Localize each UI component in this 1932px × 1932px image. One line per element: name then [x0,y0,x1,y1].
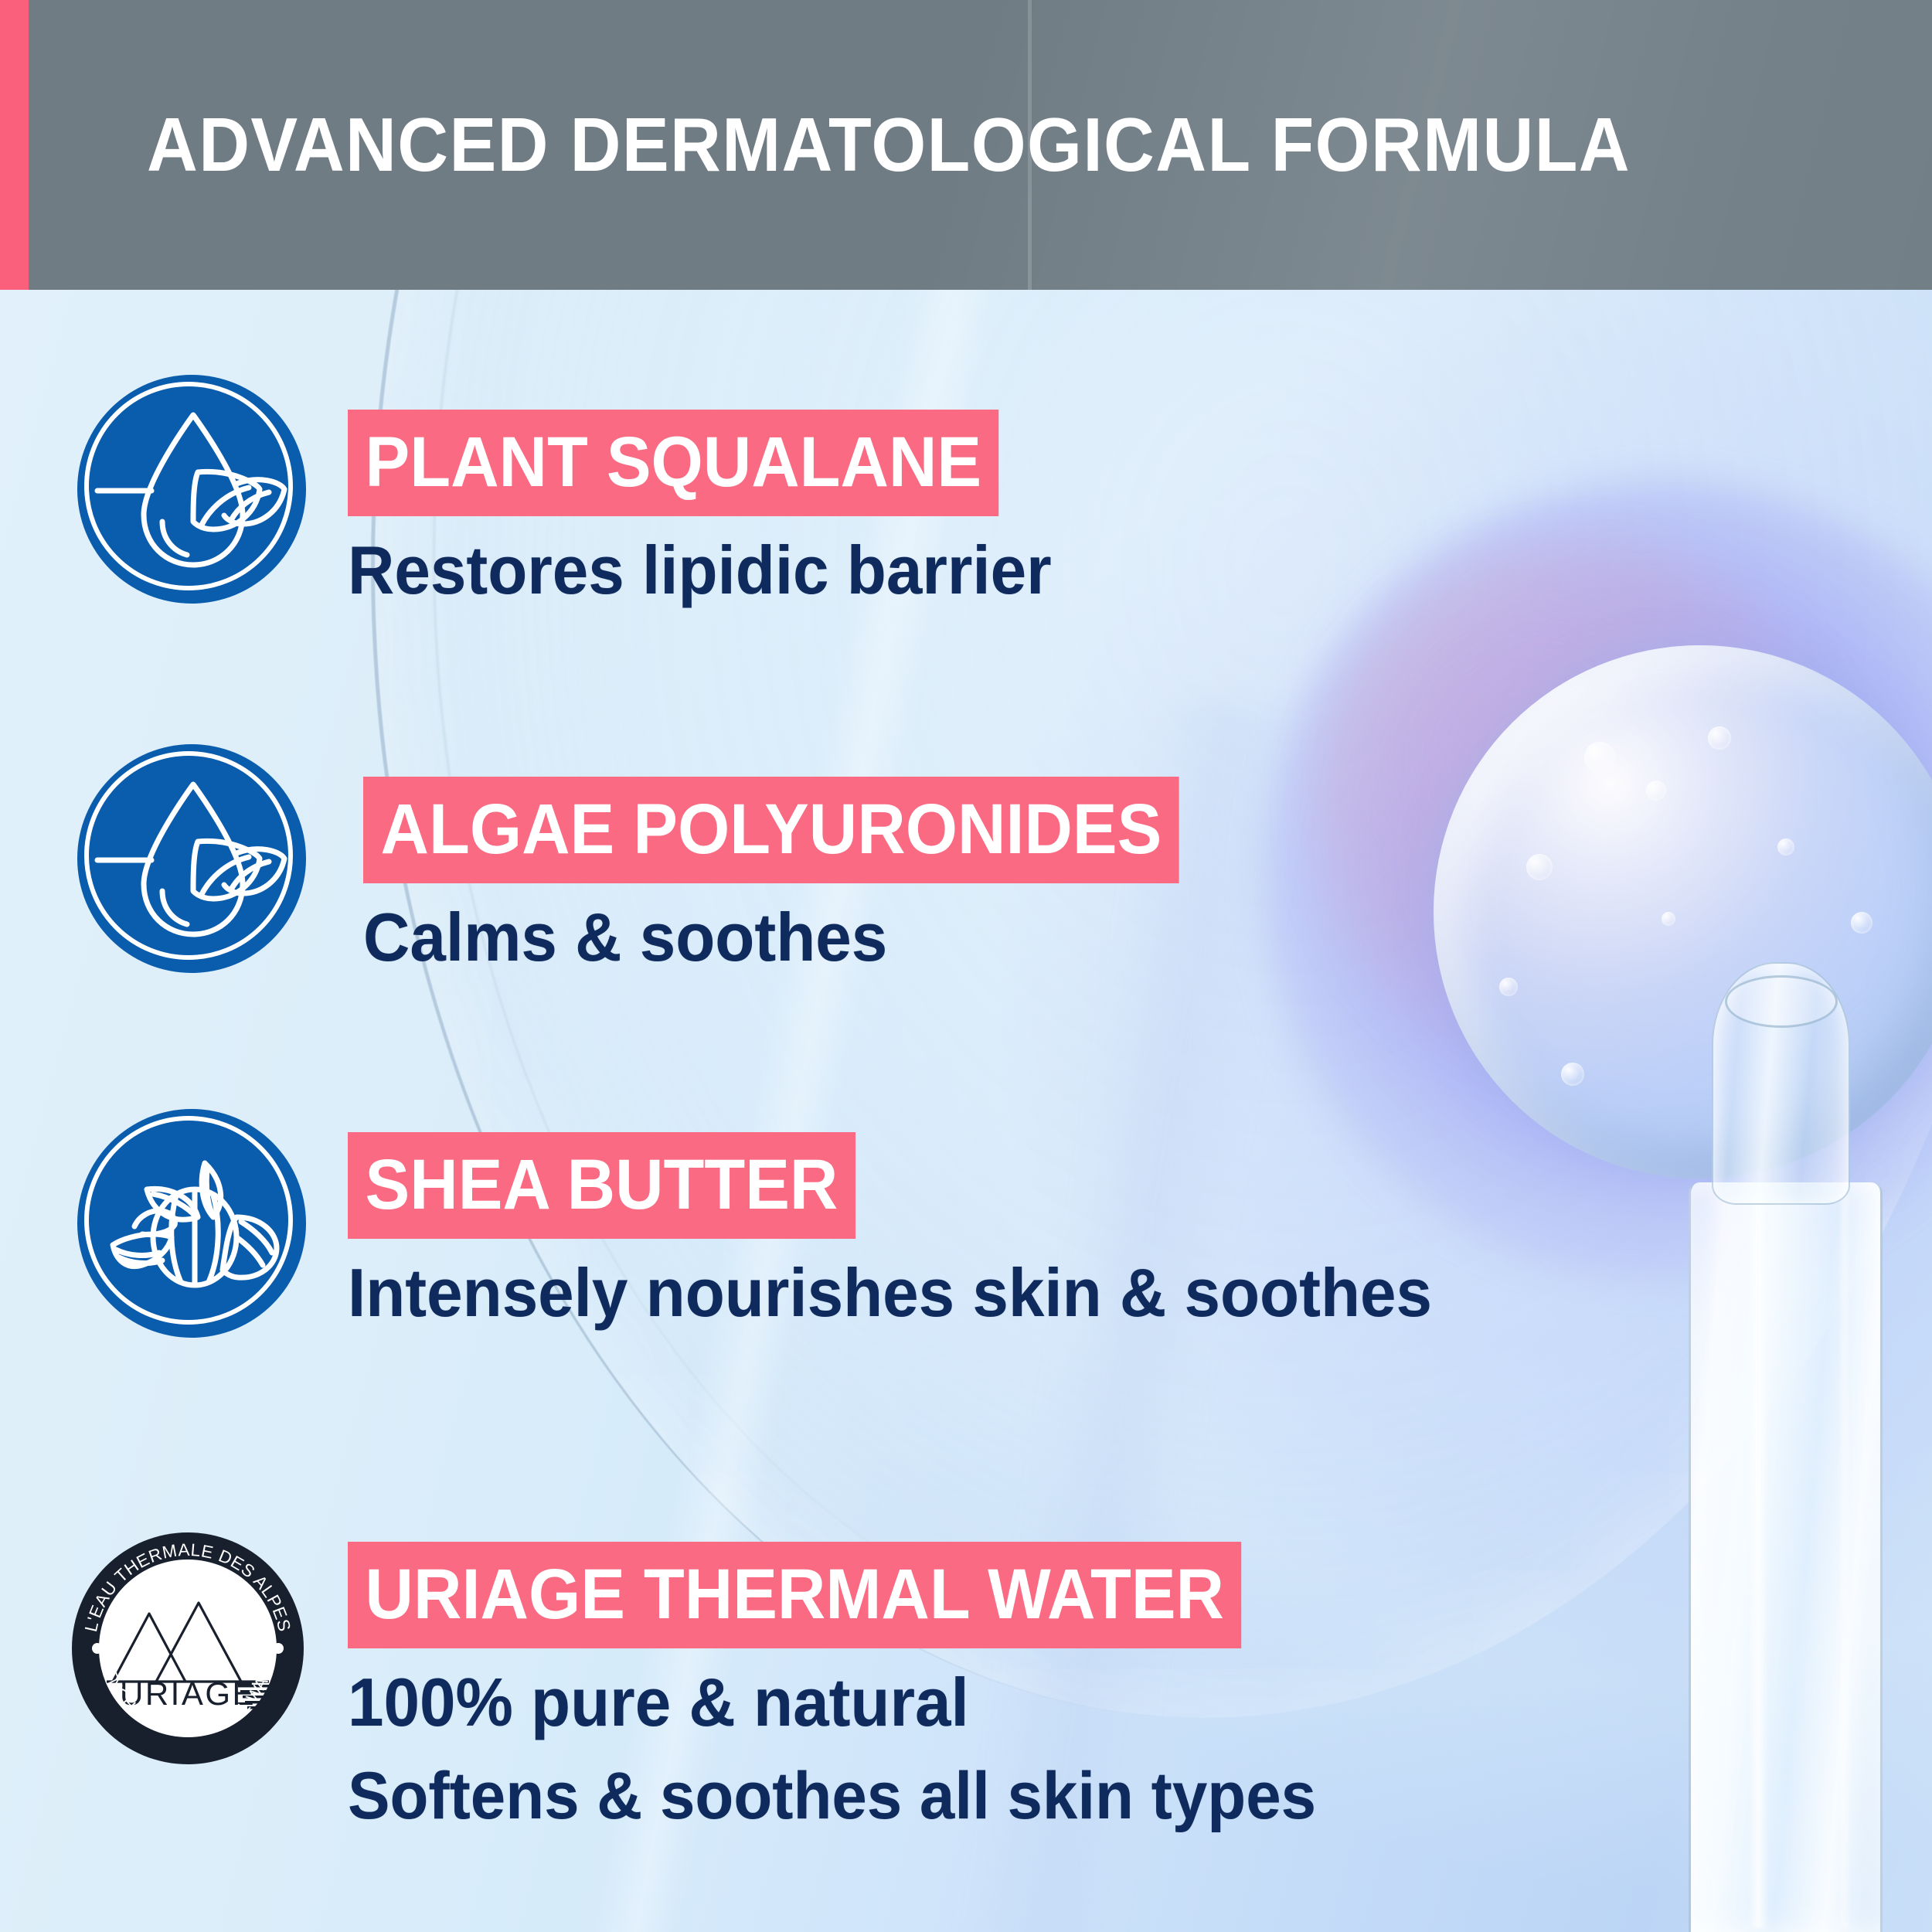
infographic-canvas: ADVANCED DERMATOLOGICAL FORMULA [0,0,1932,1932]
uriage-seal-icon: URIAGE L'EAU THERMALE DES ALPES FRENCH A… [70,1530,298,1759]
ingredient-name-tag: SHEA BUTTER [348,1132,855,1239]
page-title: ADVANCED DERMATOLOGICAL FORMULA [147,101,1631,189]
ingredient-benefit: Softens & soothes all skin types [348,1756,1316,1837]
ingredient-benefit: Calms & soothes [363,896,1188,978]
ingredient-list: PLANT SQUALANE Restores lipidic barrier [0,290,1932,1932]
ingredient-benefit: Intensely nourishes skin & soothes [348,1251,1432,1334]
accent-bar [0,0,29,290]
shea-nuts-icon [77,1109,306,1338]
ingredient-name-tag: ALGAE POLYURONIDES [363,777,1179,883]
ingredient-text-shea-butter: SHEA BUTTER Intensely nourishes skin & s… [348,1132,1489,1334]
ingredient-icon-plant-squalane [77,375,306,604]
ingredient-icon-uriage-thermal-water: URIAGE L'EAU THERMALE DES ALPES FRENCH A… [70,1530,298,1759]
ingredient-text-uriage-thermal-water: URIAGE THERMAL WATER 100% pure & natural… [348,1542,1367,1837]
ingredient-text-algae-polyuronides: ALGAE POLYURONIDES Calms & soothes [363,777,1231,978]
water-drop-leaf-icon [77,375,306,604]
ingredient-name-tag: URIAGE THERMAL WATER [348,1542,1242,1648]
water-drop-leaf-icon [77,744,306,973]
icon-badge [77,1109,306,1338]
ingredient-icon-shea-butter [77,1109,306,1338]
uriage-seal-svg: URIAGE L'EAU THERMALE DES ALPES FRENCH A… [70,1530,306,1767]
header-banner: ADVANCED DERMATOLOGICAL FORMULA [0,0,1932,290]
ingredient-text-plant-squalane: PLANT SQUALANE Restores lipidic barrier [348,410,1089,611]
ingredient-benefit: Restores lipidic barrier [348,529,1052,611]
ingredient-name-tag: PLANT SQUALANE [348,410,999,516]
ingredient-icon-algae-polyuronides [77,744,306,973]
icon-badge [77,744,306,973]
icon-badge [77,375,306,604]
ingredient-benefit: 100% pure & natural [348,1661,1316,1743]
